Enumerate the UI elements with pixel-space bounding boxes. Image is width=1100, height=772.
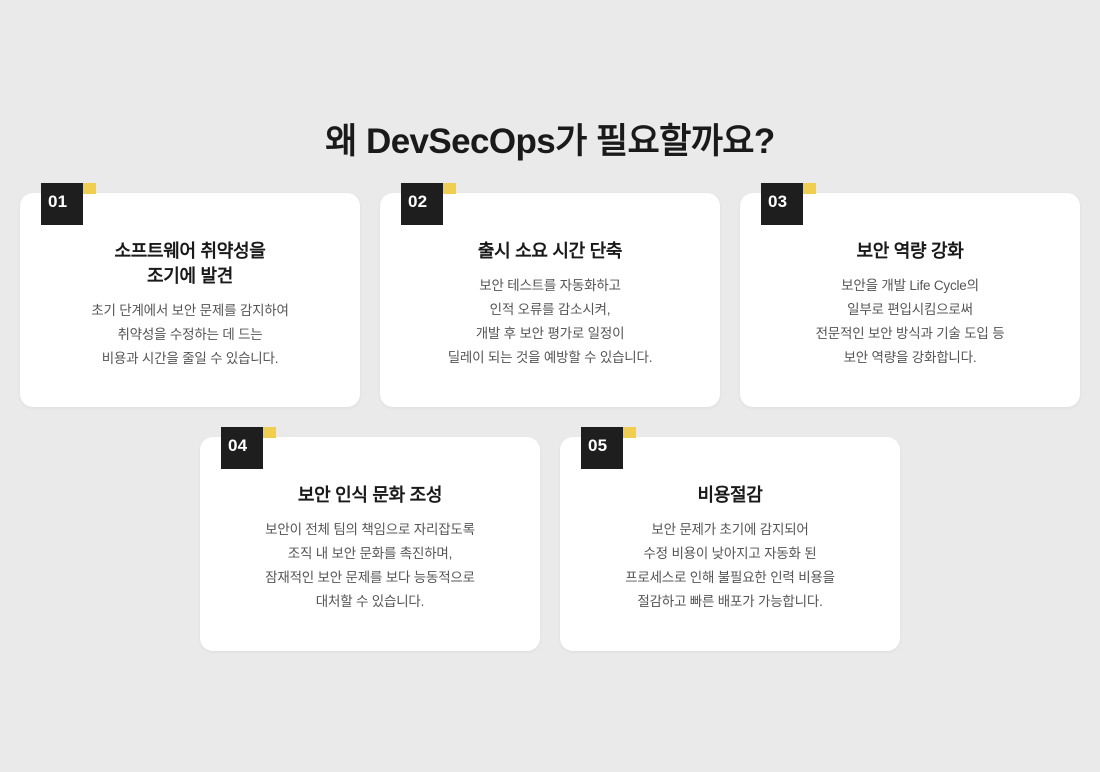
card-number-label: 04 [228,436,247,456]
page-title: 왜 DevSecOps가 필요할까요? [0,119,1100,165]
card-number-label: 01 [48,192,67,212]
card-number-label: 05 [588,436,607,456]
badge-corner-accent [443,183,456,194]
badge-corner-accent [623,427,636,438]
card-body-text: 보안 문제가 초기에 감지되어 수정 비용이 낮아지고 자동화 된 프로세스로 … [560,518,900,614]
card-title: 소프트웨어 취약성을 조기에 발견 [20,239,360,289]
card-content: 비용절감 보안 문제가 초기에 감지되어 수정 비용이 낮아지고 자동화 된 프… [560,437,900,651]
card-number-label: 02 [408,192,427,212]
card-body-text: 보안이 전체 팀의 책임으로 자리잡도록 조직 내 보안 문화를 촉진하며, 잠… [200,518,540,614]
card-number-badge: 04 [221,427,263,469]
card-title: 보안 역량 강화 [740,239,1080,264]
badge-corner-accent [83,183,96,194]
card-content: 보안 인식 문화 조성 보안이 전체 팀의 책임으로 자리잡도록 조직 내 보안… [200,437,540,651]
card-content: 출시 소요 시간 단축 보안 테스트를 자동화하고 인적 오류를 감소시켜, 개… [380,193,720,407]
card-title: 비용절감 [560,483,900,508]
badge-corner-accent [263,427,276,438]
devsecops-benefits-page: 왜 DevSecOps가 필요할까요? 01 소프트웨어 취약성을 조기에 발견… [0,0,1100,772]
card-body-text: 보안 테스트를 자동화하고 인적 오류를 감소시켜, 개발 후 보안 평가로 일… [380,274,720,370]
card-number-badge: 02 [401,183,443,225]
card-number-label: 03 [768,192,787,212]
card-content: 소프트웨어 취약성을 조기에 발견 초기 단계에서 보안 문제를 감지하여 취약… [20,193,360,407]
card-number-badge: 01 [41,183,83,225]
card-number-badge: 03 [761,183,803,225]
badge-corner-accent [803,183,816,194]
card-body-text: 초기 단계에서 보안 문제를 감지하여 취약성을 수정하는 데 드는 비용과 시… [20,299,360,371]
card-title: 출시 소요 시간 단축 [380,239,720,264]
card-title: 보안 인식 문화 조성 [200,483,540,508]
card-content: 보안 역량 강화 보안을 개발 Life Cycle의 일부로 편입시킴으로써 … [740,193,1080,407]
card-body-text: 보안을 개발 Life Cycle의 일부로 편입시킴으로써 전문적인 보안 방… [740,274,1080,370]
card-number-badge: 05 [581,427,623,469]
